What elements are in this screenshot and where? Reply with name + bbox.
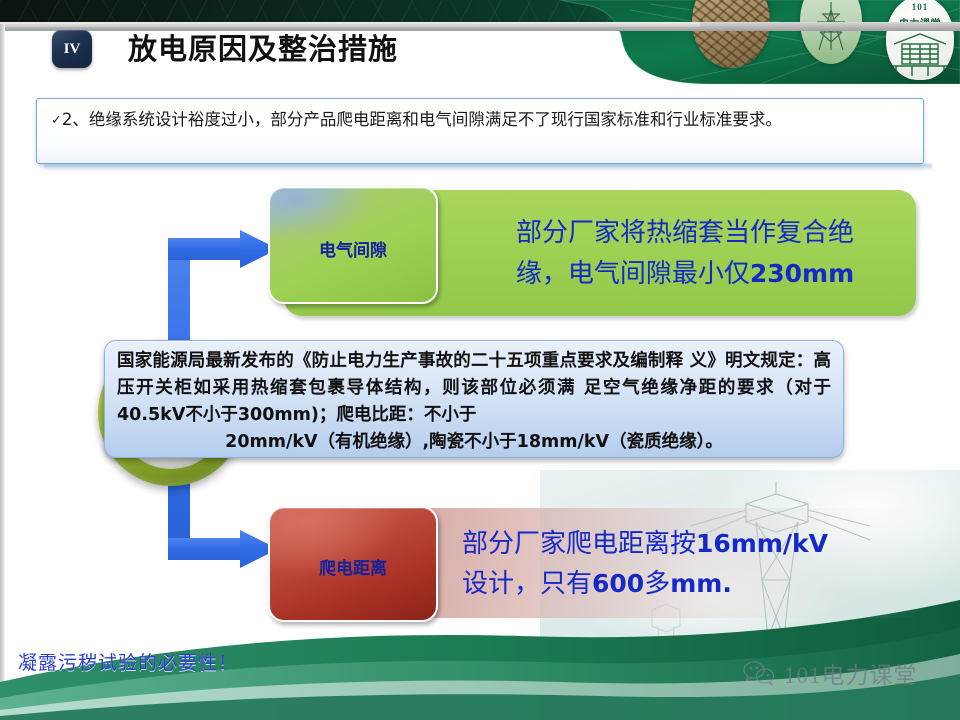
- red-line2-value: 600: [592, 569, 644, 598]
- green-line2-prefix: 缘，电气间隙最小仅: [516, 259, 750, 288]
- red-line2-mid: 多: [644, 569, 670, 598]
- green-line2-value: 230mm: [750, 259, 854, 288]
- green-line1: 部分厂家将热缩套当作复合绝: [516, 218, 854, 247]
- header-gray-ledge-highlight: [0, 22, 700, 27]
- subtitle-box: ✓2、绝缘系统设计裕度过小，部分产品爬电距离和电气间隙满足不了现行国家标准和行业…: [36, 98, 924, 164]
- watermark: 101电力课堂: [742, 658, 918, 688]
- subtitle-text: 2、绝缘系统设计裕度过小，部分产品爬电距离和电气间隙满足不了现行国家标准和行业标…: [62, 110, 782, 129]
- page-title: 放电原因及整治措施: [128, 30, 398, 68]
- slide-canvas: 101 电力课堂 IV 放电原因及整治措施 ✓2、绝缘系统设计裕度过小，部分产品…: [0, 0, 960, 720]
- red-row-text: 部分厂家爬电距离按16mm/kV 设计，只有600多mm.: [462, 524, 932, 604]
- subtitle-box-shadow: [44, 164, 932, 171]
- watermark-text: 101电力课堂: [784, 656, 918, 690]
- red-line1-prefix: 部分厂家爬电距离按: [462, 529, 696, 558]
- chip-creepage-label: 爬电距离: [270, 554, 436, 579]
- wechat-icon: [742, 660, 776, 686]
- callout-line4: 20mm/kV（有机绝缘）,陶瓷不小于18mm/kV（瓷质绝缘）。: [117, 429, 831, 456]
- red-line2-suffix: mm.: [670, 569, 732, 598]
- header-logo-badge: 101 电力课堂: [886, 0, 954, 80]
- section-number-badge: IV: [52, 30, 92, 68]
- chip-creepage[interactable]: 爬电距离: [268, 506, 438, 622]
- footer-note: 凝露污秽试验的必要性！: [18, 648, 238, 675]
- chip-clearance-label: 电气间隙: [270, 236, 436, 261]
- chip-clearance[interactable]: 电气间隙: [268, 186, 438, 304]
- red-line2-prefix: 设计，只有: [462, 569, 592, 598]
- header-logo-line1: 101: [886, 2, 954, 12]
- callout-line1: 国家能源局最新发布的《防止电力生产事故的二十五项重点要求及编制释: [117, 351, 683, 371]
- check-icon: ✓: [51, 113, 62, 128]
- green-row-text: 部分厂家将热缩套当作复合绝 缘，电气间隙最小仅230mm: [462, 212, 908, 294]
- red-line1-value: 16mm/kV: [696, 529, 828, 558]
- regulation-callout: 国家能源局最新发布的《防止电力生产事故的二十五项重点要求及编制释 义》明文规定：…: [104, 340, 844, 458]
